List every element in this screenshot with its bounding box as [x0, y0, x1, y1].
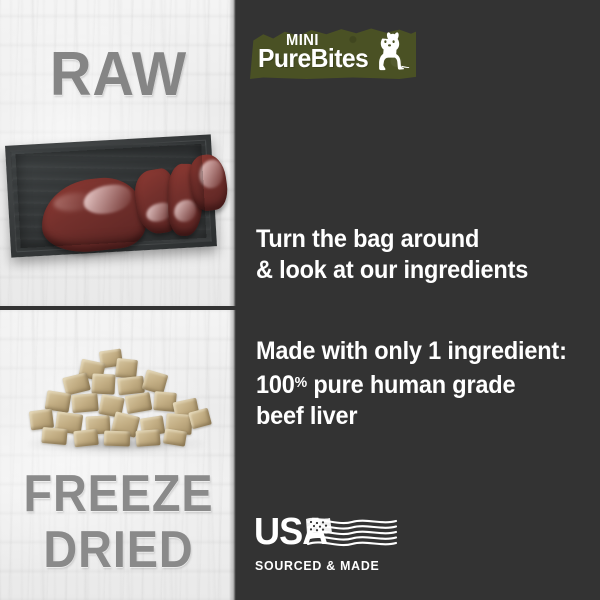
raw-liver-photo: [2, 132, 224, 264]
subhead-line-1: Made with only 1 ingredient:: [256, 336, 567, 367]
freeze-label-line2: DRIED: [12, 524, 225, 576]
logo-purebites-word: PureBites: [258, 45, 368, 71]
percent-symbol: %: [295, 374, 307, 391]
brand-logo[interactable]: MINI PureBites: [250, 27, 416, 79]
panel-divider: [0, 306, 237, 310]
freeze-dried-cube: [188, 408, 212, 430]
subhead-percent-number: 100: [256, 371, 295, 399]
freeze-dried-cube: [41, 427, 67, 445]
subhead-line-3: beef liver: [256, 401, 567, 432]
product-marketing-image: RAW: [0, 0, 600, 600]
liver-whole-piece: [37, 174, 148, 257]
freeze-dried-cube: [135, 429, 160, 447]
freeze-dried-cube: [73, 429, 99, 447]
slate-board: [5, 134, 217, 257]
freeze-dried-label: FREEZE DRIED: [0, 468, 237, 576]
dog-silhouette-icon: [368, 32, 410, 76]
headline-line-2: & look at our ingredients: [256, 255, 528, 286]
liver-slice: [132, 166, 184, 236]
usa-flag-icon: [306, 515, 398, 553]
subhead-text: Made with only 1 ingredient: 100% pure h…: [256, 336, 567, 432]
headline-line-1: Turn the bag around: [256, 224, 528, 255]
subhead-line-2-rest: pure human grade: [307, 371, 515, 399]
usa-sourced-made-badge: USA SOURCED & MADE: [254, 513, 404, 579]
liver-slice: [187, 152, 231, 213]
liver-slice: [168, 164, 203, 236]
headline-text: Turn the bag around & look at our ingred…: [256, 224, 528, 286]
freeze-dried-cube: [125, 392, 153, 414]
freeze-dried-cube: [71, 393, 98, 413]
freeze-dried-cubes-photo: [18, 348, 214, 466]
freeze-label-line1: FREEZE: [12, 468, 225, 520]
freeze-dried-cube: [91, 373, 115, 394]
freeze-dried-cube: [104, 431, 131, 447]
usa-tagline: SOURCED & MADE: [255, 559, 380, 573]
torn-edge-divider: [229, 0, 240, 600]
raw-label: RAW: [8, 44, 228, 106]
freeze-dried-cube: [163, 428, 187, 446]
subhead-line-2: 100% pure human grade: [256, 367, 567, 401]
freeze-dried-cube: [62, 372, 91, 396]
